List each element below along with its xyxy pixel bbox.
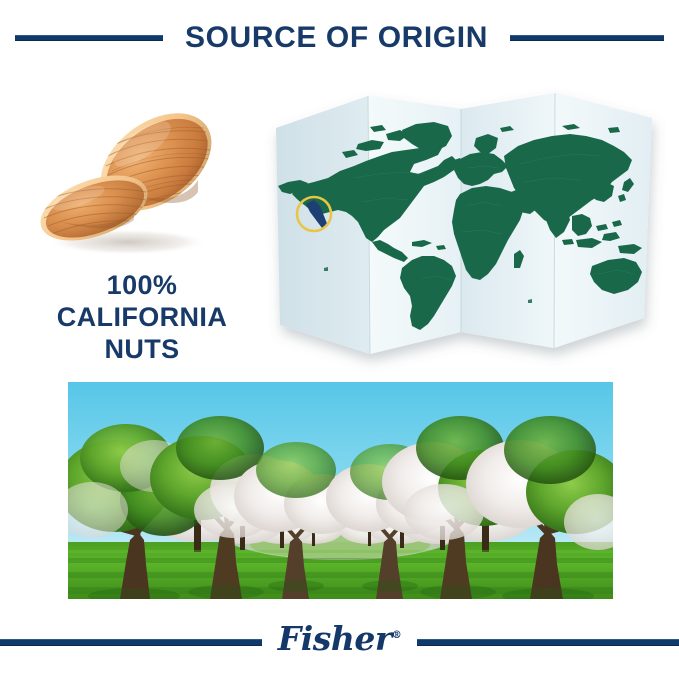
left-panel-copy: 100% CALIFORNIA NUTS: [16, 270, 268, 366]
orchard-photo-panel: [68, 382, 613, 599]
copy-line-3: NUTS: [16, 334, 268, 366]
copy-line-2: CALIFORNIA: [16, 302, 268, 334]
footer-rule-right: [417, 639, 679, 646]
header-rule-right: [510, 35, 664, 41]
page-footer: Fisher®: [0, 605, 679, 679]
copy-line-1: 100%: [16, 270, 268, 302]
header-rule-left: [15, 35, 163, 41]
two-almonds-photo: [16, 84, 268, 264]
footer-rule-left: [0, 639, 262, 646]
page-title: SOURCE OF ORIGIN: [185, 21, 488, 55]
registered-trademark-icon: ®: [392, 630, 402, 641]
world-map-panel: [262, 82, 666, 374]
fisher-logo: Fisher®: [278, 619, 401, 658]
almond-orchard-in-bloom-photo: [68, 382, 613, 599]
almond-panel: 100% CALIFORNIA NUTS: [16, 84, 268, 368]
page-header: SOURCE OF ORIGIN: [0, 0, 679, 75]
fisher-wordmark: Fisher: [278, 619, 392, 658]
folded-world-map: [262, 82, 666, 374]
